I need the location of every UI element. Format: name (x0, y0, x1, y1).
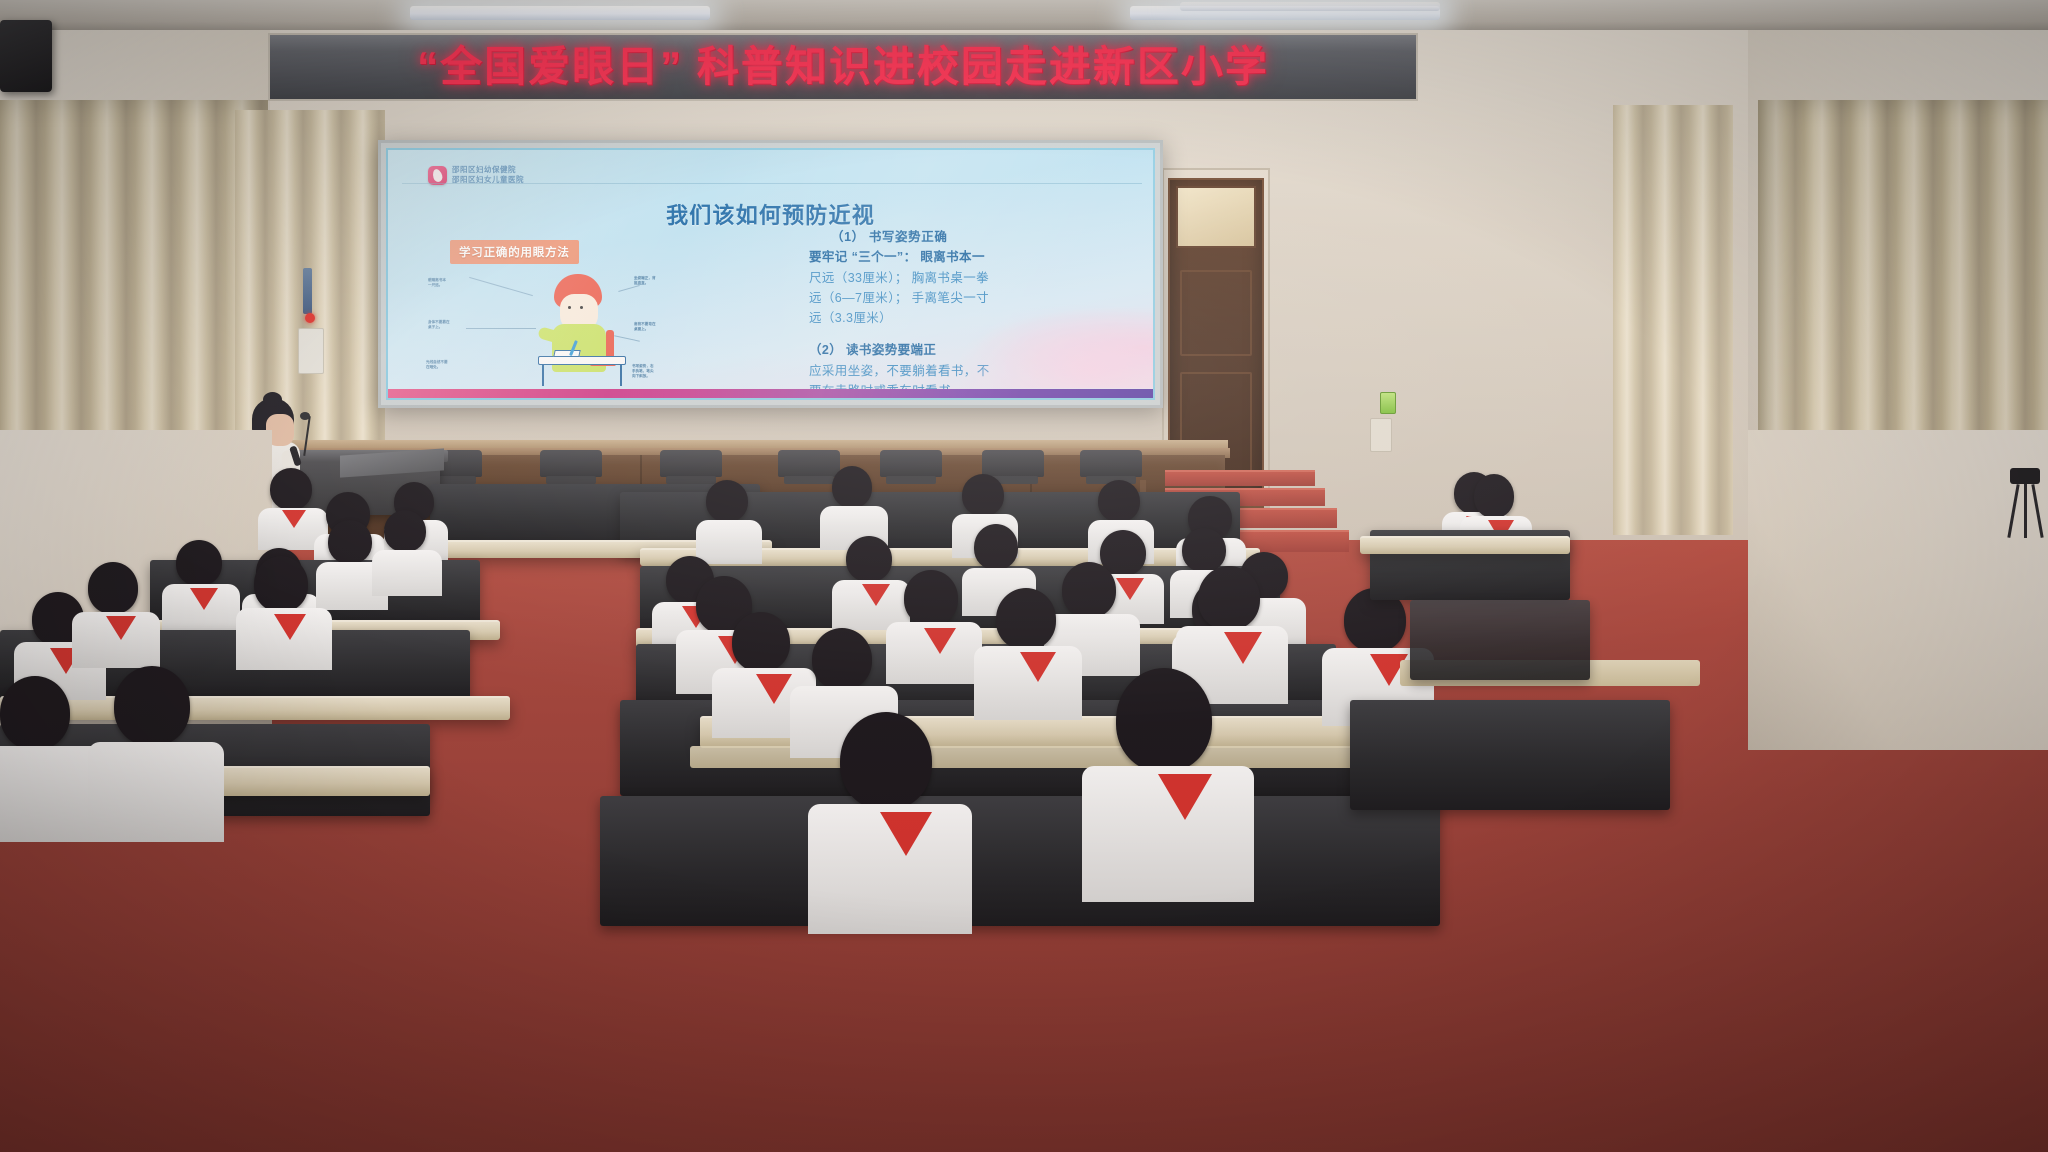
ceiling-light (410, 6, 710, 20)
slide-divider (402, 183, 1142, 184)
ceiling-light (1180, 2, 1440, 11)
section-1-heading: （1） 书写姿势正确 (831, 228, 1139, 247)
auditorium-photo: “全国爱眼日” 科普知识进校园走进新区小学 邵阳区妇幼保健院 邵阳区妇女儿童医院… (0, 0, 2048, 1152)
illustration-note: 坐姿端正，背 挺直直。 (634, 276, 656, 286)
stage-chair (778, 450, 840, 490)
curtain-mid-right (1613, 105, 1733, 535)
bench-back (1410, 600, 1590, 680)
stage-chair (880, 450, 942, 490)
illustration-note: 眼睛离书本 一尺远。 (428, 278, 446, 288)
projection-screen: 邵阳区妇幼保健院 邵阳区妇女儿童医院 我们该如何预防近视 学习正确的用眼方法 眼… (386, 148, 1155, 400)
slide-body-text: （1） 书写姿势正确 要牢记 “三个一”： 眼离书本一 尺远（33厘米）； 胸离… (809, 228, 1139, 400)
logo-line-1: 邵阳区妇幼保健院 (452, 166, 524, 175)
section-1-strong: 要牢记 “三个一”： 眼离书本一 (809, 247, 1139, 267)
illustration-note: 光线自然不要 在暗处。 (426, 360, 448, 370)
illustration-note: 身体不要靠在 桌子上。 (428, 320, 450, 330)
section-1-line: 尺远（33厘米）； 胸离书桌一拳 (809, 268, 1139, 288)
posture-illustration: 眼睛离书本 一尺远。 身体不要靠在 桌子上。 光线自然不要 在暗处。 坐姿端正，… (422, 268, 712, 388)
projection-screen-frame: 邵阳区妇幼保健院 邵阳区妇女儿童医院 我们该如何预防近视 学习正确的用眼方法 眼… (378, 140, 1163, 408)
section-1-line: 远（6—7厘米）； 手离笔尖一寸 (809, 288, 1139, 308)
slide-accent-bar (388, 389, 1153, 398)
door-panel (1180, 270, 1252, 356)
section-2-line: 应采用坐姿，不要躺着看书，不 (809, 361, 1139, 381)
slide-tag: 学习正确的用眼方法 (450, 240, 579, 264)
section-2-heading: （2） 读书姿势要端正 (809, 340, 1139, 360)
section-1-line: 远（3.3厘米） (809, 308, 1139, 328)
wall-strip (303, 268, 312, 314)
leader-line (466, 328, 536, 329)
book (553, 350, 580, 357)
event-banner: “全国爱眼日” 科普知识进校园走进新区小学 (268, 33, 1418, 101)
wall-control-box (298, 328, 324, 374)
presenter-hair-bun (263, 392, 282, 407)
illustration-note: 书写姿势，右 手执笔，笔尖 向下斜放。 (632, 364, 654, 379)
bench-back (600, 796, 1440, 926)
leader-line (469, 277, 533, 296)
desk (538, 356, 626, 365)
slide-tag-label: 学习正确的用眼方法 (459, 247, 570, 259)
speaker-box (0, 20, 52, 92)
door-window (1176, 186, 1256, 248)
bench-back (1350, 700, 1670, 810)
camera-icon (2010, 468, 2040, 484)
slide-title: 我们该如何预防近视 (388, 198, 1153, 230)
student-figure-illustration (532, 274, 628, 386)
camera-tripod (2004, 468, 2044, 538)
illustration-note: 肩背不要弯在 桌面上。 (634, 322, 656, 332)
wall-switch[interactable] (1370, 418, 1392, 452)
side-wall-right (1748, 430, 2048, 750)
exit-device-icon (1380, 392, 1396, 414)
banner-text: “全国爱眼日” 科普知识进校园走进新区小学 (417, 46, 1269, 88)
alarm-indicator-icon (305, 313, 315, 323)
desk-surface (1360, 536, 1570, 554)
